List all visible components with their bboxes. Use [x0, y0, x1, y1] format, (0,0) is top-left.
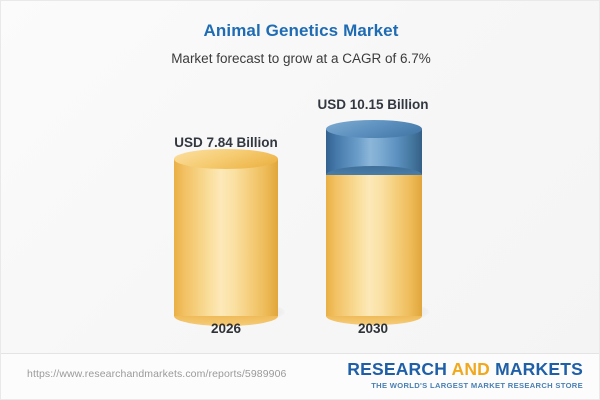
logo-tagline: THE WORLD'S LARGEST MARKET RESEARCH STOR…: [347, 381, 583, 390]
logo-word-markets: MARKETS: [495, 359, 583, 379]
report-url[interactable]: https://www.researchandmarkets.com/repor…: [27, 368, 286, 380]
bar-body-2030: [326, 129, 422, 316]
brand-logo[interactable]: RESEARCH AND MARKETS THE WORLD'S LARGEST…: [347, 360, 583, 390]
bar-value-label-2026: USD 7.84 Billion: [116, 135, 336, 150]
bar-2026: [174, 159, 278, 316]
logo-word-research: RESEARCH: [347, 359, 447, 379]
bar-top-cap-2030: [326, 120, 422, 138]
logo-wordmark: RESEARCH AND MARKETS: [347, 360, 583, 379]
chart-poster: Animal Genetics Market Market forecast t…: [0, 0, 600, 400]
bar-value-label-2030: USD 10.15 Billion: [263, 97, 483, 112]
x-axis-label-2030: 2030: [263, 321, 483, 336]
bar-segment-base-2026: [174, 159, 278, 316]
bar-2030: [326, 129, 422, 316]
logo-word-and: AND: [451, 359, 490, 379]
plot-area: USD 7.84 Billion 2026 USD 10.15 Billion: [1, 1, 600, 353]
footer: https://www.researchandmarkets.com/repor…: [1, 354, 600, 400]
bar-segment-base-lower-2030: [326, 175, 422, 316]
bar-top-cap-2026: [174, 149, 278, 169]
bar-body-2026: [174, 159, 278, 316]
